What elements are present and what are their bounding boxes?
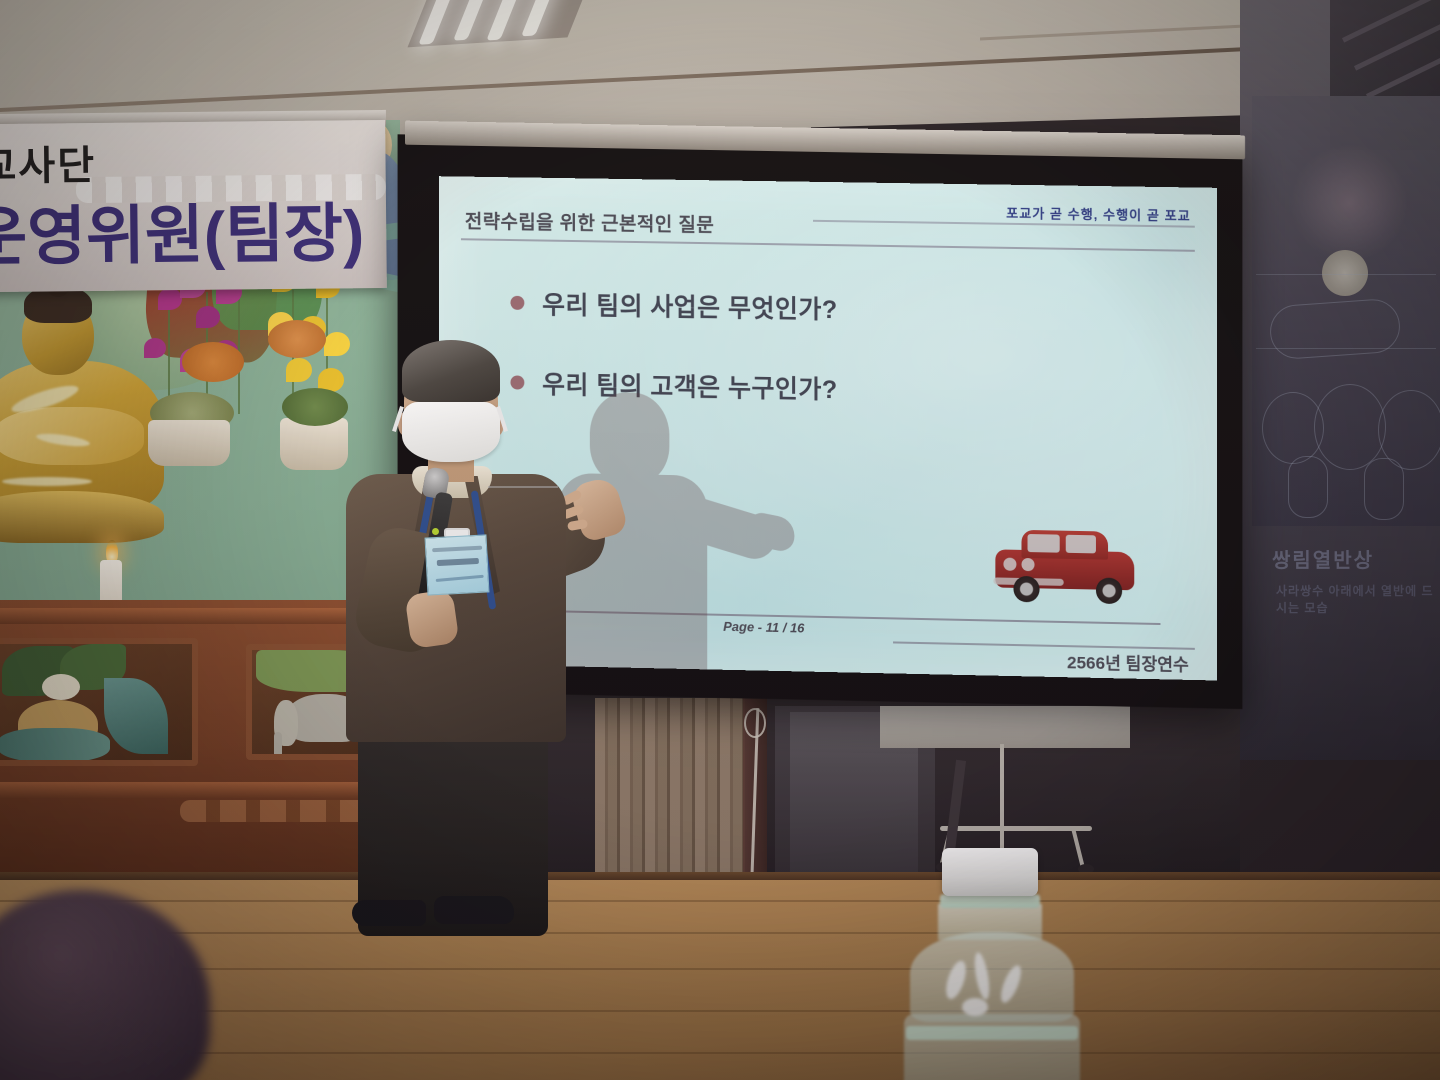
bottle-cap [942,848,1038,896]
car-headlight [1003,558,1016,571]
car-headlight [1021,558,1034,571]
nirvana-mural [1252,96,1440,526]
presenter-shoe [352,900,426,926]
bottle-label-band [906,1026,1078,1040]
name-badge [425,534,490,595]
board-crossbar [940,826,1092,831]
car-window [1028,534,1060,553]
fluorescent-tube [486,0,523,40]
slide-title: 전략수립을 위한 근본적인 질문 [465,206,714,237]
list-item: 우리 팀의 사업은 무엇인가? [510,285,837,326]
plaque-title: 쌍림열반상 [1272,544,1374,573]
photo-scene: 쌍림열반상 사라쌍수 아래에서 열반에 드시는 모습 [0,0,1440,1080]
purple-orchid [158,288,182,310]
presenter-shoe [434,896,514,924]
slide-footer-right: 2566년 팀장연수 [1067,648,1189,676]
mural-moon [1322,250,1368,296]
mural-figure-outline [1288,456,1328,518]
banner-line-2: 운영위원(팀장) [0,182,365,278]
slide-title-rule [461,238,1195,252]
carved-wave [104,678,168,754]
car-wheel [1096,577,1122,604]
presenter-hair [402,340,500,402]
mural-figure-outline [1364,458,1404,520]
bottle-tamper-ring [940,894,1040,908]
shadow-hand [745,511,798,554]
bullet-dot-icon [510,296,524,310]
slide-page-number: Page - 11 / 16 [723,619,804,636]
yellow-orchid [286,358,312,382]
ceiling-seam [0,38,1440,112]
ceiling-light-recess [407,0,592,47]
bottle-body [904,1014,1080,1080]
mural-figure-outline [1268,298,1401,361]
presenter [330,340,630,940]
mural-figure-outline [1314,384,1386,470]
microphone-led [432,528,439,535]
wooden-floor [0,880,1440,1080]
slide-header-right: 포교가 곧 수행, 수행이 곧 포교 [1006,203,1191,225]
bullet-text: 우리 팀의 사업은 무엇인가? [542,285,837,326]
flower-pot [148,420,230,466]
car-wheel [1013,576,1039,603]
buddha-statue [0,295,150,555]
mural-halo [1290,144,1408,262]
event-banner: 교사단 운영위원(팀장) [0,120,387,292]
plaque-subtitle: 사라쌍수 아래에서 열반에 드시는 모습 [1276,582,1438,616]
mural-plaque: 쌍림열반상 사라쌍수 아래에서 열반에 드시는 모습 [1248,536,1438,622]
fluorescent-tube [521,0,558,36]
bottle-shoulder [910,932,1074,1022]
banner-line-1: 교사단 [0,133,96,192]
shadow-arm [669,492,781,565]
purple-orchid [144,338,166,358]
orange-bloom [182,342,244,382]
red-suv-clipart [987,525,1138,606]
presenter-mic-hand [404,589,459,649]
whiteboard-panel [880,706,1130,748]
fluorescent-tube [418,0,455,45]
water-bottle [900,848,1090,1080]
car-window [1066,535,1096,554]
bottle-neck [938,904,1042,940]
fluorescent-tube [453,0,490,41]
slide-footer-rule-right [893,642,1195,650]
carved-panel-lotus [0,638,198,766]
elephant-trunk [274,732,282,758]
carved-wave [0,728,110,762]
buddha-lotus-pedestal [0,491,164,543]
face-mask-icon [402,402,500,462]
carved-lotus-flower [42,674,80,700]
purple-orchid [196,306,220,328]
orange-bloom [268,320,326,358]
